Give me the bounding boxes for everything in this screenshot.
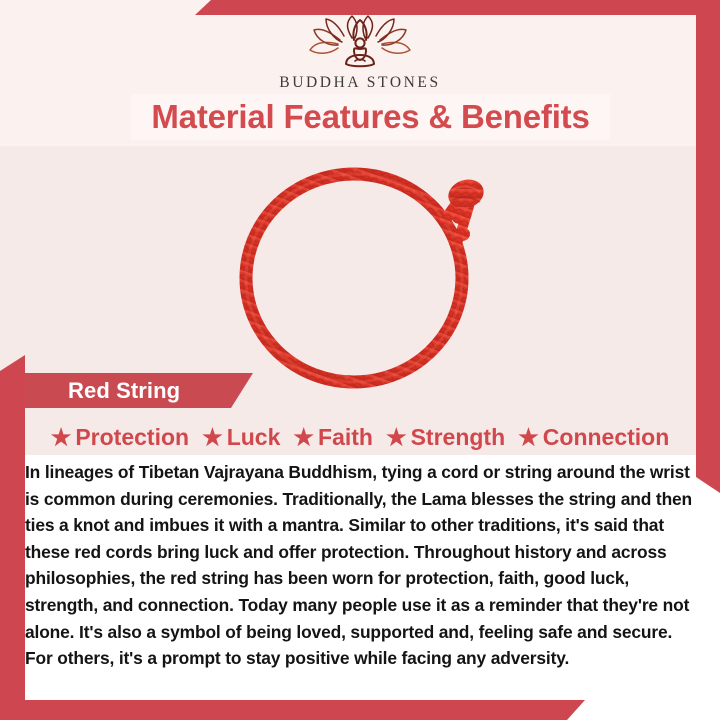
keyword-label: Connection: [543, 424, 670, 451]
product-label-text: Red String: [25, 378, 180, 404]
star-icon: ★: [386, 426, 407, 449]
star-icon: ★: [51, 426, 72, 449]
keyword-faith: ★ Faith: [293, 424, 373, 451]
product-label-ribbon: Red String: [25, 373, 253, 408]
title-banner: Material Features & Benefits: [131, 94, 610, 140]
benefit-keyword-row: ★ Protection ★ Luck ★ Faith ★ Strength ★…: [25, 420, 695, 454]
star-icon: ★: [202, 426, 223, 449]
brand-logo: BUDDHA STONES: [0, 14, 720, 92]
product-image-red-string-bracelet: [228, 150, 500, 392]
red-bracelet-illustration: [228, 150, 500, 392]
infographic-page: BUDDHA STONES Material Features & Benefi…: [0, 0, 720, 720]
keyword-label: Protection: [75, 424, 189, 451]
keyword-luck: ★ Luck: [202, 424, 280, 451]
keyword-protection: ★ Protection: [51, 424, 189, 451]
keyword-strength: ★ Strength: [386, 424, 505, 451]
lotus-meditation-logo-icon: [308, 14, 412, 72]
decorative-frame-bar-bottom: [0, 700, 585, 720]
decorative-frame-bar-left: [0, 355, 25, 700]
keyword-label: Faith: [318, 424, 373, 451]
decorative-frame-bar-top: [195, 0, 720, 15]
keyword-label: Luck: [227, 424, 281, 451]
description-paragraph: In lineages of Tibetan Vajrayana Buddhis…: [25, 459, 694, 672]
page-title: Material Features & Benefits: [151, 98, 589, 136]
star-icon: ★: [518, 426, 539, 449]
star-icon: ★: [293, 426, 314, 449]
brand-name: BUDDHA STONES: [279, 74, 440, 92]
keyword-connection: ★ Connection: [518, 424, 669, 451]
keyword-label: Strength: [411, 424, 506, 451]
